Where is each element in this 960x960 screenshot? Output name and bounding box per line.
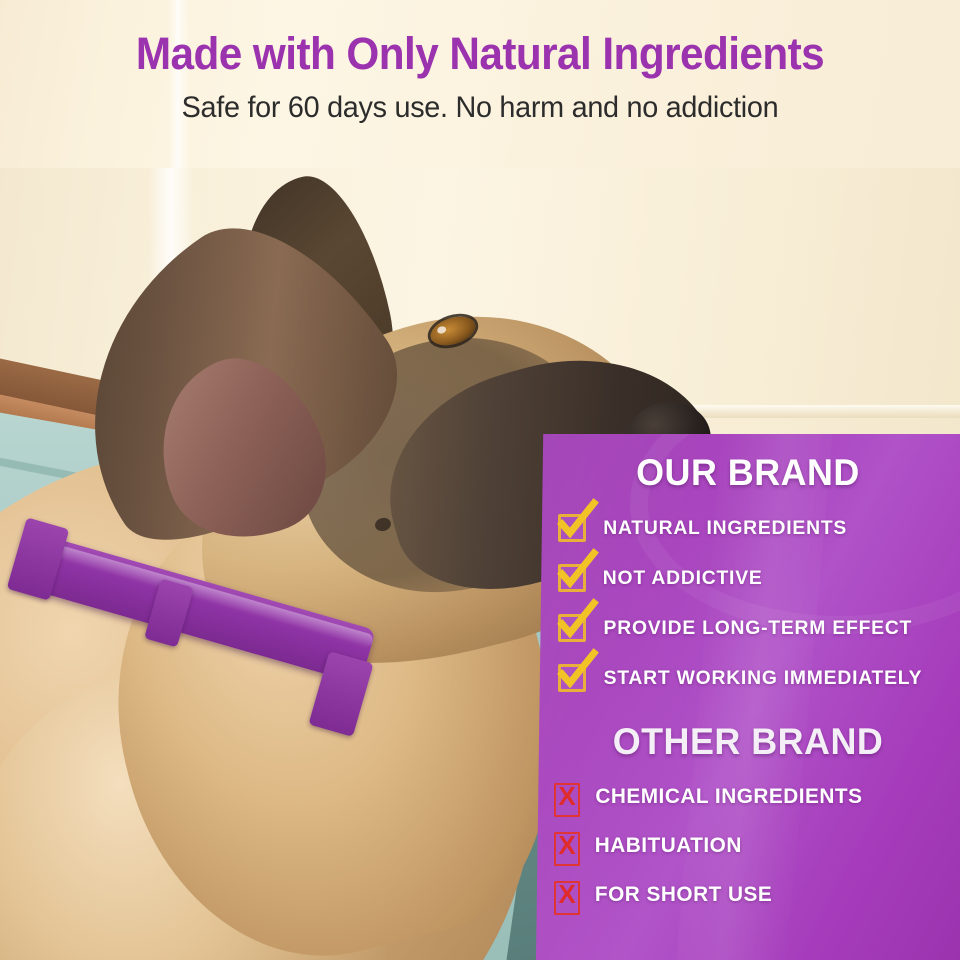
- x-box-glyph: X: [554, 779, 580, 813]
- list-item: X HABITUATION: [536, 821, 960, 870]
- our-brand-list: NATURAL INGREDIENTS NOT ADDICTIVE: [536, 503, 960, 703]
- list-item-label: HABITUATION: [595, 834, 742, 858]
- list-item: X FOR SHORT USE: [536, 870, 960, 919]
- other-brand-list: X CHEMICAL INGREDIENTS X HABITUATION X: [536, 772, 960, 919]
- x-box-icon: X: [554, 881, 580, 909]
- x-box-icon: X: [554, 783, 580, 811]
- check-box-icon: [558, 614, 586, 642]
- x-box-glyph: X: [554, 877, 580, 911]
- x-box-glyph: X: [554, 828, 580, 862]
- product-infographic: Made with Only Natural Ingredients Safe …: [0, 0, 960, 960]
- our-brand-heading: OUR BRAND: [542, 434, 953, 491]
- list-item: PROVIDE LONG-TERM EFFECT: [536, 603, 960, 653]
- check-box-icon: [558, 514, 586, 542]
- list-item-label: CHEMICAL INGREDIENTS: [595, 785, 862, 809]
- list-item-label: START WORKING IMMEDIATELY: [604, 667, 923, 690]
- header-band: Made with Only Natural Ingredients Safe …: [0, 0, 960, 168]
- other-brand-heading: OTHER BRAND: [542, 703, 953, 760]
- list-item-label: PROVIDE LONG-TERM EFFECT: [604, 617, 913, 640]
- list-item: START WORKING IMMEDIATELY: [536, 653, 960, 703]
- list-item: X CHEMICAL INGREDIENTS: [536, 772, 960, 821]
- list-item-label: FOR SHORT USE: [595, 883, 772, 907]
- x-box-icon: X: [554, 832, 580, 860]
- check-box-icon: [558, 564, 586, 592]
- page-title: Made with Only Natural Ingredients: [29, 31, 931, 76]
- list-item: NOT ADDICTIVE: [536, 553, 960, 603]
- comparison-panel: OUR BRAND NATURAL INGREDIENTS: [536, 434, 960, 960]
- page-subtitle: Safe for 60 days use. No harm and no add…: [19, 93, 941, 123]
- list-item-label: NOT ADDICTIVE: [603, 567, 763, 590]
- check-box-icon: [558, 664, 586, 692]
- list-item: NATURAL INGREDIENTS: [536, 503, 960, 553]
- list-item-label: NATURAL INGREDIENTS: [603, 517, 847, 540]
